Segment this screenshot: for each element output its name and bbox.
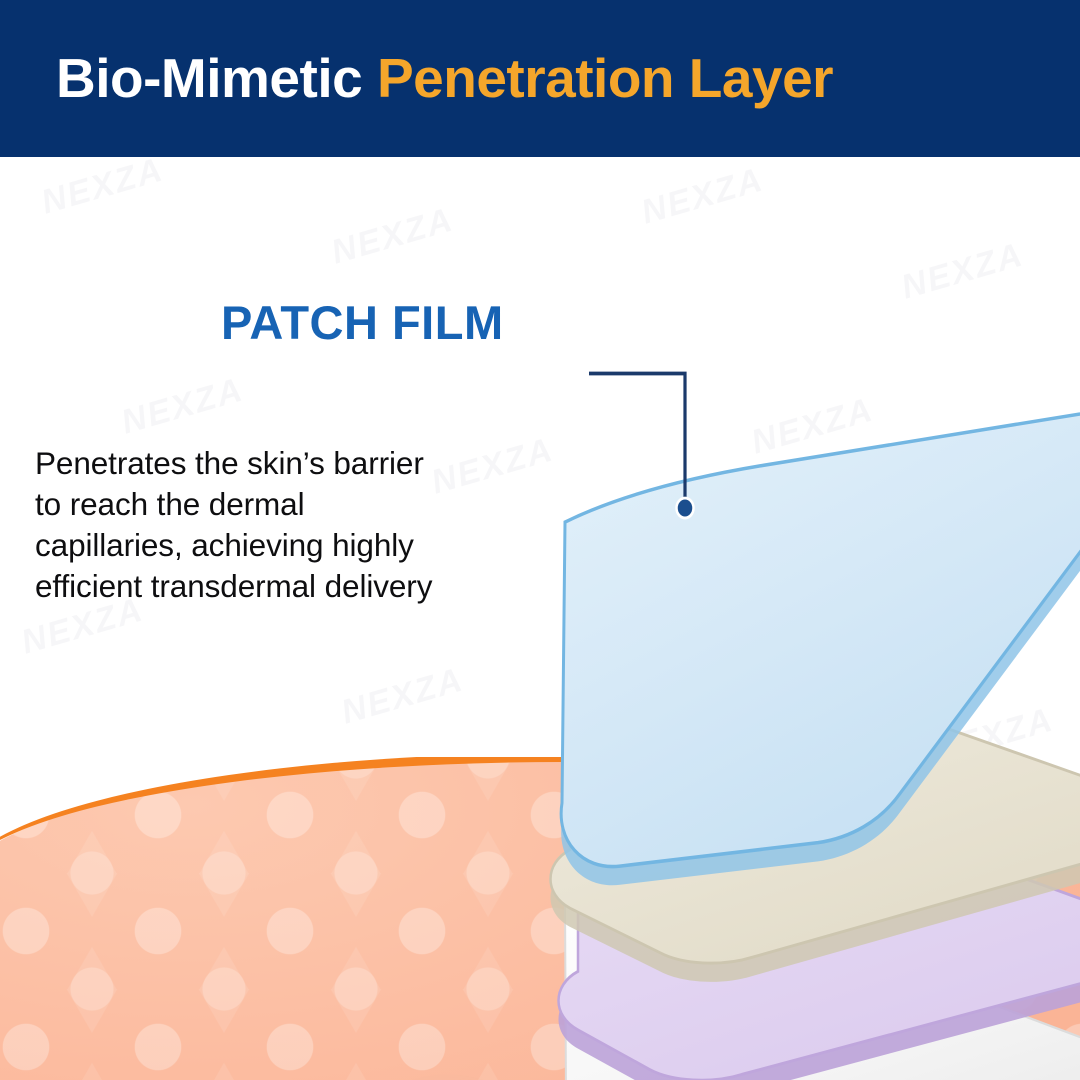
- callout-leader-line: [0, 157, 1080, 1080]
- callout-label-text: PATCH FILM: [221, 296, 504, 349]
- description-line: to reach the dermal: [35, 484, 565, 525]
- page-title-accent: Penetration Layer: [377, 47, 833, 109]
- page-title: Bio-Mimetic Penetration Layer: [0, 51, 833, 106]
- description-text: Penetrates the skin’s barrier to reach t…: [35, 443, 565, 607]
- page-title-primary: Bio-Mimetic: [56, 47, 377, 109]
- callout-label-patch-film: PATCH FILM: [221, 299, 504, 346]
- description-line: capillaries, achieving highly: [35, 525, 565, 566]
- infographic-canvas: NEXZA NEXZA NEXZA NEXZA NEXZA NEXZA NEXZ…: [0, 0, 1080, 1080]
- header-bar: Bio-Mimetic Penetration Layer: [0, 0, 1080, 157]
- description-line: Penetrates the skin’s barrier: [35, 443, 565, 484]
- description-line: efficient transdermal delivery: [35, 566, 565, 607]
- content-area: NEXZA NEXZA NEXZA NEXZA NEXZA NEXZA NEXZ…: [0, 157, 1080, 1080]
- callout-anchor-dot: [677, 498, 694, 518]
